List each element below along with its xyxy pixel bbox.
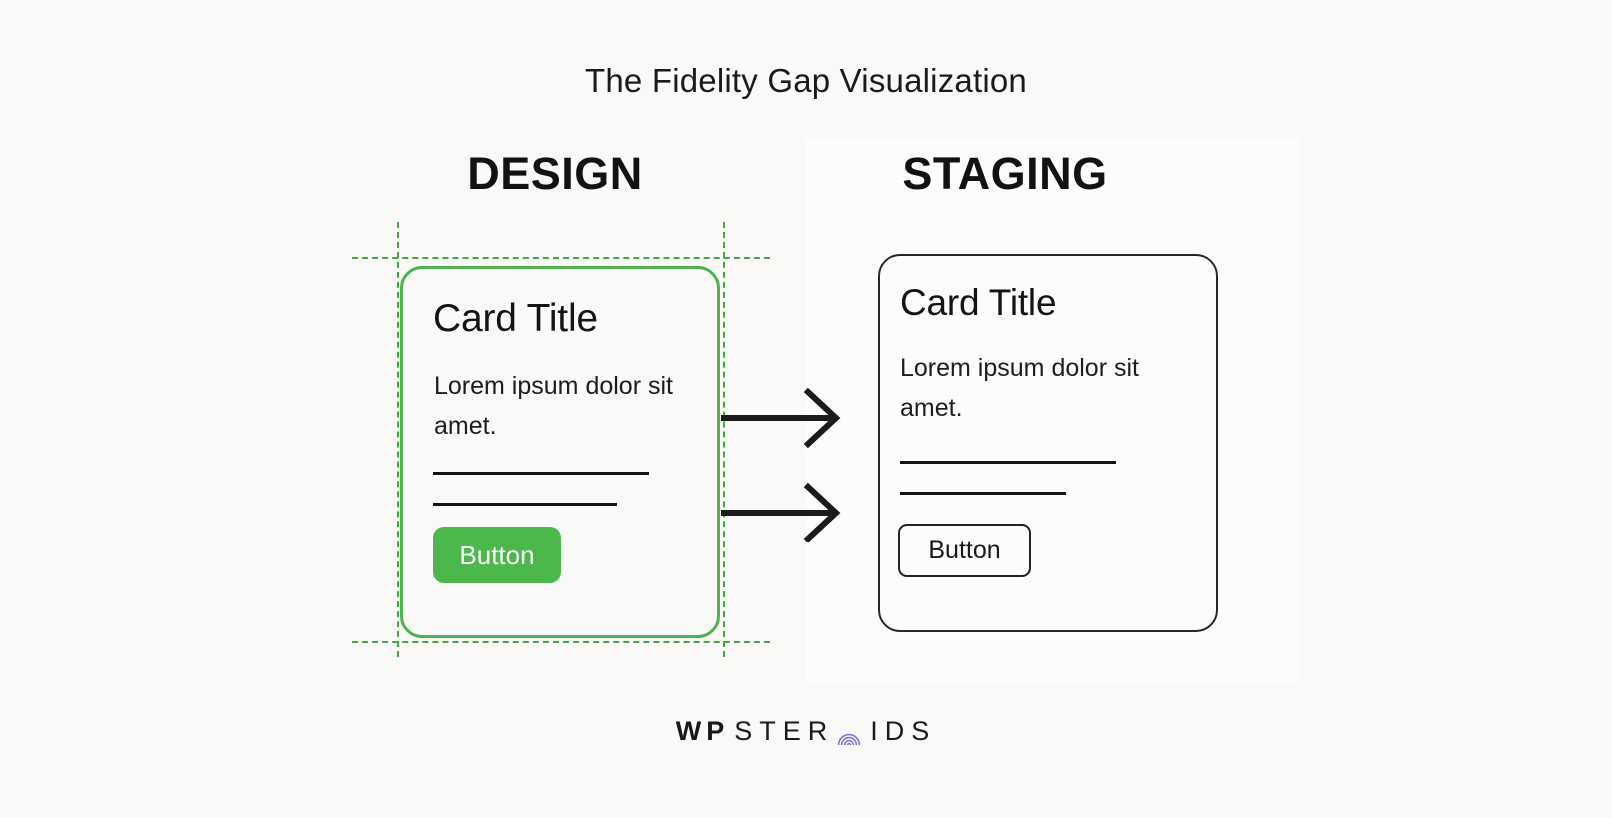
guide-line-horizontal-top (352, 257, 770, 259)
logo-text-ids: IDS (870, 716, 936, 747)
arrow-right-icon-group (716, 382, 846, 542)
page-title: The Fidelity Gap Visualization (0, 62, 1612, 100)
staging-card-divider-line-2 (900, 492, 1066, 495)
design-card-divider-line-2 (433, 503, 617, 506)
design-card-title: Card Title (433, 297, 598, 341)
staging-card-divider-line-1 (900, 461, 1116, 464)
guide-line-vertical-left (397, 222, 399, 657)
design-card-body-text: Lorem ipsum dolor sit amet. (434, 366, 694, 446)
column-heading-design: DESIGN (330, 148, 780, 200)
logo-arc-icon (837, 724, 861, 746)
fidelity-gap-visualization: The Fidelity Gap Visualization DESIGN ST… (0, 0, 1612, 818)
design-card-button[interactable]: Button (433, 527, 561, 583)
logo-text-ster: STER (734, 716, 834, 747)
column-heading-staging: STAGING (800, 148, 1210, 200)
wpsteroids-logo: WP STER IDS (0, 716, 1612, 747)
guide-line-horizontal-bottom (352, 641, 770, 643)
staging-card-button[interactable]: Button (898, 524, 1031, 577)
logo-text-wp: WP (676, 716, 730, 747)
design-card: Card Title Lorem ipsum dolor sit amet. B… (400, 266, 720, 638)
staging-card-title: Card Title (900, 282, 1056, 324)
staging-card-body-text: Lorem ipsum dolor sit amet. (900, 348, 1160, 428)
staging-card: Card Title Lorem ipsum dolor sit amet. B… (878, 254, 1218, 632)
design-card-divider-line-1 (433, 472, 649, 475)
connector-arrows (716, 382, 846, 542)
